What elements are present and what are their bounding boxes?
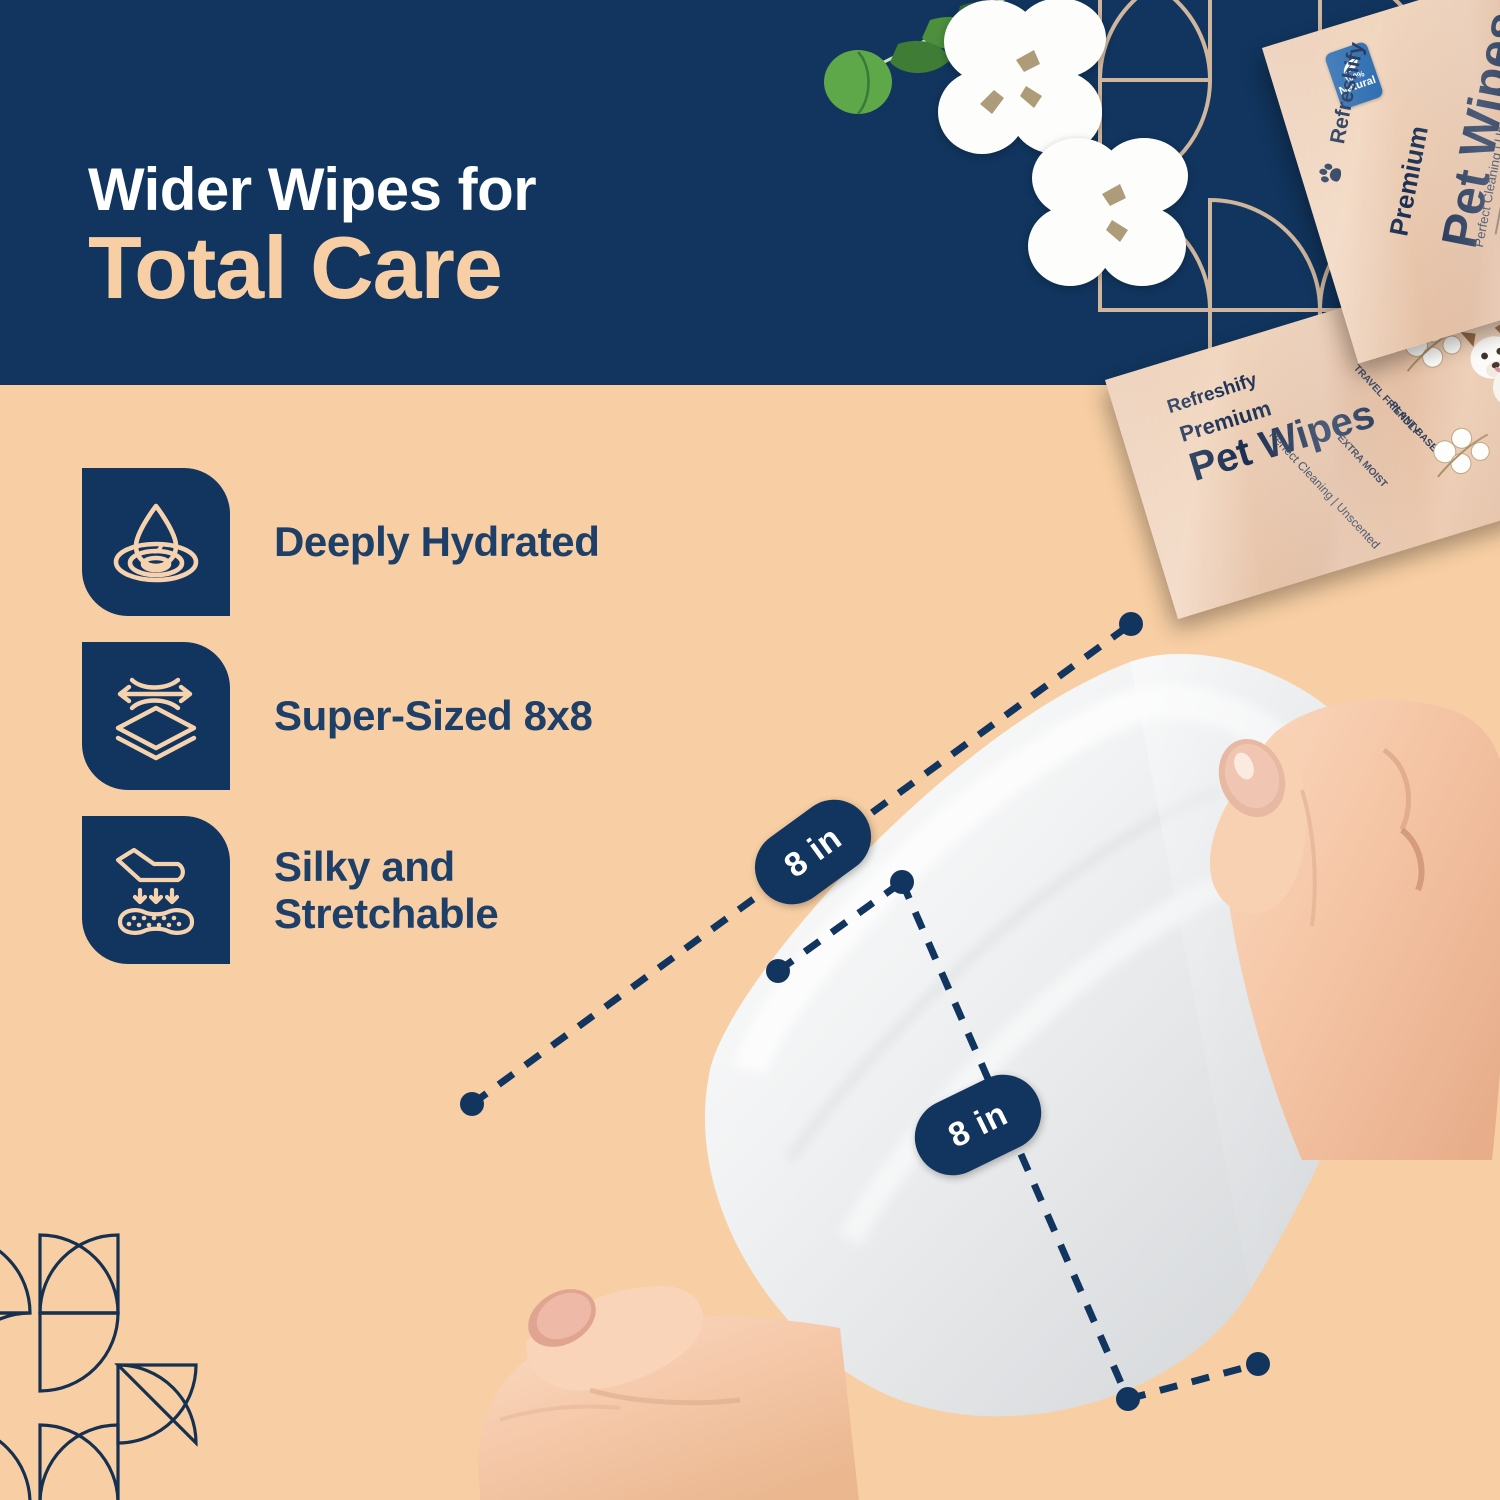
feature-icon-badge <box>82 642 230 790</box>
hand-holding-wipe-bottom <box>440 1190 860 1500</box>
soft-press-hand-icon <box>104 838 208 942</box>
packet-tag: EXTRA MOIST <box>1335 433 1389 490</box>
water-drop-ripple-icon <box>104 490 208 594</box>
feature-icon-badge <box>82 816 230 964</box>
leaf-pattern-background <box>0 1180 260 1500</box>
stretch-layers-icon <box>104 664 208 768</box>
hand-holding-wipe-top <box>1152 690 1500 1160</box>
feature-item-hydrated: Deeply Hydrated <box>82 468 802 616</box>
product-infographic: Wider Wipes for Total Care <box>0 0 1500 1500</box>
packet-premium-label: Premium <box>1383 123 1435 238</box>
page-title: Wider Wipes for Total Care <box>88 158 908 313</box>
paw-logo-icon <box>1316 159 1346 189</box>
feature-label: Deeply Hydrated <box>274 518 599 565</box>
cotton-boll-icon <box>1020 132 1200 304</box>
headline-line-1: Wider Wipes for <box>88 158 908 221</box>
feature-icon-badge <box>82 468 230 616</box>
headline-line-2: Total Care <box>88 223 908 313</box>
